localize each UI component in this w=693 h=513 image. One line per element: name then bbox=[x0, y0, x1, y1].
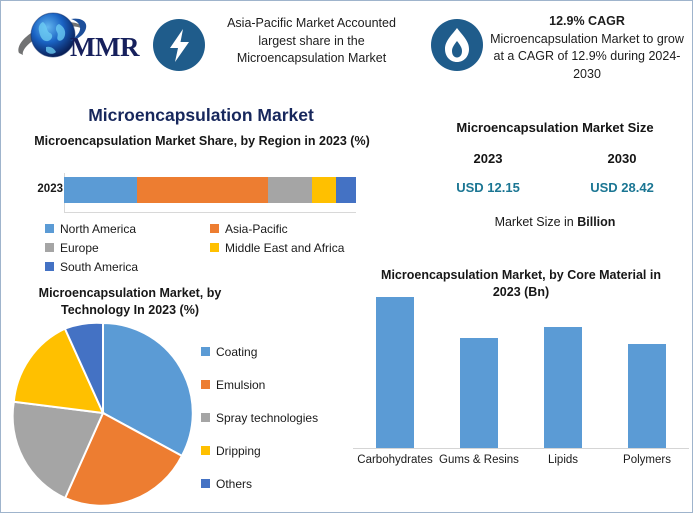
page-title: Microencapsulation Market bbox=[1, 105, 401, 126]
legend-label: Others bbox=[216, 477, 252, 491]
core-bar-polymers[interactable] bbox=[628, 344, 666, 448]
core-material-axis-labels: Carbohydrates Gums & Resins Lipids Polym… bbox=[353, 453, 689, 468]
legend-swatch-icon bbox=[45, 243, 54, 252]
region-segment-asia-pacific[interactable] bbox=[137, 177, 268, 203]
axis-label-polymers: Polymers bbox=[605, 453, 689, 468]
core-column bbox=[521, 297, 605, 448]
legend-swatch-icon bbox=[210, 224, 219, 233]
core-material-chart: Microencapsulation Market, by Core Mater… bbox=[349, 267, 693, 511]
market-size-values: USD 12.15 USD 28.42 bbox=[421, 180, 689, 195]
legend-label: North America bbox=[60, 222, 136, 236]
flame-glyph bbox=[431, 19, 483, 71]
legend-label: Asia-Pacific bbox=[225, 222, 288, 236]
axis-label-carbohydrates: Carbohydrates bbox=[353, 453, 437, 468]
legend-label: Europe bbox=[60, 241, 99, 255]
header-bar: MMR Asia-Pacific Market Accounted larges… bbox=[1, 1, 693, 89]
technology-chart-title: Microencapsulation Market, by Technology… bbox=[15, 285, 245, 319]
legend-label: Spray technologies bbox=[216, 411, 318, 425]
technology-legend: Coating Emulsion Spray technologies Drip… bbox=[201, 335, 351, 500]
market-size-year-start: 2023 bbox=[421, 151, 555, 166]
legend-item-asia-pacific[interactable]: Asia-Pacific bbox=[210, 219, 375, 238]
market-size-footnote-unit: Billion bbox=[577, 215, 615, 229]
legend-swatch-icon bbox=[201, 446, 210, 455]
core-bar-lipids[interactable] bbox=[544, 327, 582, 448]
legend-swatch-icon bbox=[45, 262, 54, 271]
legend-swatch-icon bbox=[201, 413, 210, 422]
legend-label: South America bbox=[60, 260, 138, 274]
market-size-footnote: Market Size in Billion bbox=[421, 215, 689, 229]
core-bar-carbohydrates[interactable] bbox=[376, 297, 414, 448]
legend-item-south-america[interactable]: South America bbox=[45, 257, 210, 276]
mmr-logo[interactable]: MMR bbox=[13, 9, 153, 69]
legend-item-coating[interactable]: Coating bbox=[201, 335, 351, 368]
flame-icon bbox=[431, 19, 483, 71]
core-bar-gums-resins[interactable] bbox=[460, 338, 498, 448]
legend-item-middle-east-africa[interactable]: Middle East and Africa bbox=[210, 238, 375, 257]
legend-label: Dripping bbox=[216, 444, 261, 458]
lightning-bolt-icon bbox=[153, 19, 205, 71]
region-share-chart: Microencapsulation Market Share, by Regi… bbox=[9, 133, 395, 278]
legend-swatch-icon bbox=[45, 224, 54, 233]
logo-wordmark: MMR bbox=[70, 32, 139, 63]
legend-swatch-icon bbox=[201, 380, 210, 389]
header-right-text: 12.9% CAGR Microencapsulation Market to … bbox=[487, 13, 687, 83]
region-segment-europe[interactable] bbox=[268, 177, 312, 203]
legend-label: Middle East and Africa bbox=[225, 241, 344, 255]
legend-label: Emulsion bbox=[216, 378, 265, 392]
legend-item-emulsion[interactable]: Emulsion bbox=[201, 368, 351, 401]
axis-label-lipids: Lipids bbox=[521, 453, 605, 468]
market-size-value-start: USD 12.15 bbox=[421, 180, 555, 195]
core-material-chart-title: Microencapsulation Market, by Core Mater… bbox=[371, 267, 671, 301]
region-stacked-bar bbox=[64, 177, 356, 203]
market-size-value-end: USD 28.42 bbox=[555, 180, 689, 195]
cagr-description: Microencapsulation Market to grow at a C… bbox=[490, 32, 684, 81]
legend-item-dripping[interactable]: Dripping bbox=[201, 434, 351, 467]
region-category-label: 2023 bbox=[21, 183, 63, 195]
region-segment-middle-east-africa[interactable] bbox=[312, 177, 335, 203]
region-legend: North America Asia-Pacific Europe Middle… bbox=[45, 219, 375, 276]
legend-item-europe[interactable]: Europe bbox=[45, 238, 210, 257]
core-column bbox=[605, 297, 689, 448]
legend-swatch-icon bbox=[210, 243, 219, 252]
legend-swatch-icon bbox=[201, 479, 210, 488]
infographic-root: MMR Asia-Pacific Market Accounted larges… bbox=[0, 0, 693, 513]
technology-share-chart: Microencapsulation Market, by Technology… bbox=[5, 285, 355, 513]
legend-item-north-america[interactable]: North America bbox=[45, 219, 210, 238]
legend-item-others[interactable]: Others bbox=[201, 467, 351, 500]
region-segment-south-america[interactable] bbox=[336, 177, 356, 203]
legend-swatch-icon bbox=[201, 347, 210, 356]
cagr-headline: 12.9% CAGR bbox=[487, 13, 687, 31]
core-column bbox=[353, 297, 437, 448]
market-size-panel: Microencapsulation Market Size 2023 2030… bbox=[421, 119, 689, 264]
core-material-plot-area bbox=[353, 297, 689, 449]
legend-item-spray-technologies[interactable]: Spray technologies bbox=[201, 401, 351, 434]
market-size-title: Microencapsulation Market Size bbox=[421, 119, 689, 137]
header-left-text: Asia-Pacific Market Accounted largest sh… bbox=[209, 15, 414, 68]
region-plot-area: 2023 bbox=[9, 173, 395, 215]
region-segment-north-america[interactable] bbox=[64, 177, 137, 203]
axis-label-gums-resins: Gums & Resins bbox=[437, 453, 521, 468]
region-chart-title: Microencapsulation Market Share, by Regi… bbox=[9, 133, 395, 149]
market-size-years: 2023 2030 bbox=[421, 151, 689, 166]
core-column bbox=[437, 297, 521, 448]
technology-pie bbox=[7, 317, 199, 509]
market-size-footnote-prefix: Market Size in bbox=[495, 215, 578, 229]
market-size-year-end: 2030 bbox=[555, 151, 689, 166]
legend-label: Coating bbox=[216, 345, 257, 359]
lightning-bolt-glyph bbox=[153, 19, 205, 71]
